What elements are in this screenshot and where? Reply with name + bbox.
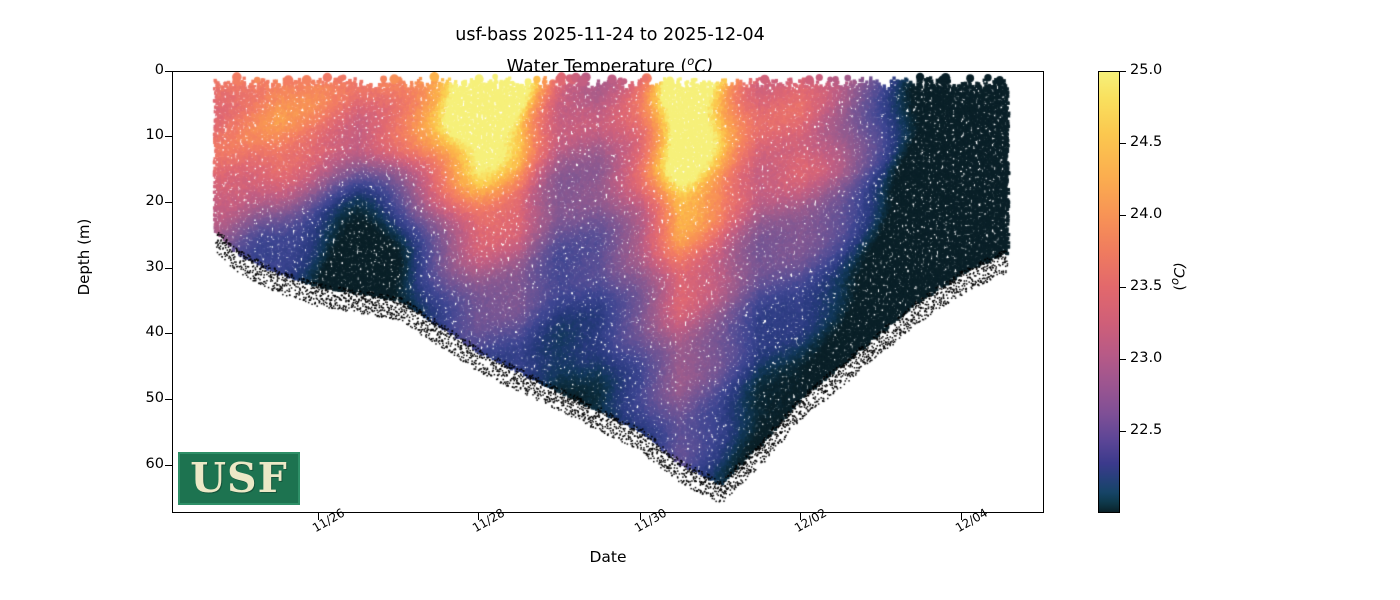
plot-area[interactable] (172, 71, 1044, 513)
temperature-scatter-points (173, 72, 1043, 512)
y-axis-label: Depth (m) (75, 167, 93, 347)
colorbar-tick-mark (1120, 71, 1126, 72)
y-tick-label: 20 (104, 193, 164, 209)
colorbar-tick-label: 24.0 (1130, 206, 1162, 222)
colorbar-label-suffix: C) (1172, 262, 1188, 278)
y-tick-mark (165, 268, 172, 269)
data-clip-region (173, 72, 1043, 512)
y-tick-mark (165, 333, 172, 334)
y-tick-label: 60 (104, 456, 164, 472)
colorbar-tick-mark (1120, 359, 1126, 360)
colorbar[interactable] (1098, 71, 1120, 513)
colorbar-label-prefix: ( (1172, 285, 1188, 291)
usf-logo-text: USF (190, 458, 287, 499)
colorbar-tick-label: 23.5 (1130, 278, 1162, 294)
colorbar-tick-mark (1120, 143, 1126, 144)
colorbar-tick-label: 24.5 (1130, 134, 1162, 150)
y-tick-mark (165, 71, 172, 72)
y-tick-label: 30 (104, 259, 164, 275)
figure-canvas: usf-bass 2025-11-24 to 2025-12-04 Water … (0, 0, 1400, 600)
usf-logo: USF (178, 452, 300, 505)
y-tick-mark (165, 202, 172, 203)
colorbar-degree-symbol: o (1168, 278, 1182, 285)
colorbar-tick-label: 25.0 (1130, 62, 1162, 78)
y-tick-mark (165, 399, 172, 400)
y-tick-mark (165, 465, 172, 466)
x-axis-label: Date (172, 548, 1044, 566)
y-tick-label: 50 (104, 390, 164, 406)
colorbar-tick-label: 22.5 (1130, 422, 1162, 438)
colorbar-tick-mark (1120, 287, 1126, 288)
title-line-dataset: usf-bass 2025-11-24 to 2025-12-04 (0, 22, 1220, 48)
colorbar-label: (oC) (1168, 231, 1189, 321)
colorbar-gradient (1099, 72, 1119, 512)
colorbar-tick-label: 23.0 (1130, 350, 1162, 366)
y-tick-label: 10 (104, 127, 164, 143)
colorbar-tick-mark (1120, 215, 1126, 216)
y-tick-label: 40 (104, 324, 164, 340)
y-tick-mark (165, 136, 172, 137)
colorbar-tick-mark (1120, 431, 1126, 432)
y-tick-label: 0 (104, 62, 164, 78)
